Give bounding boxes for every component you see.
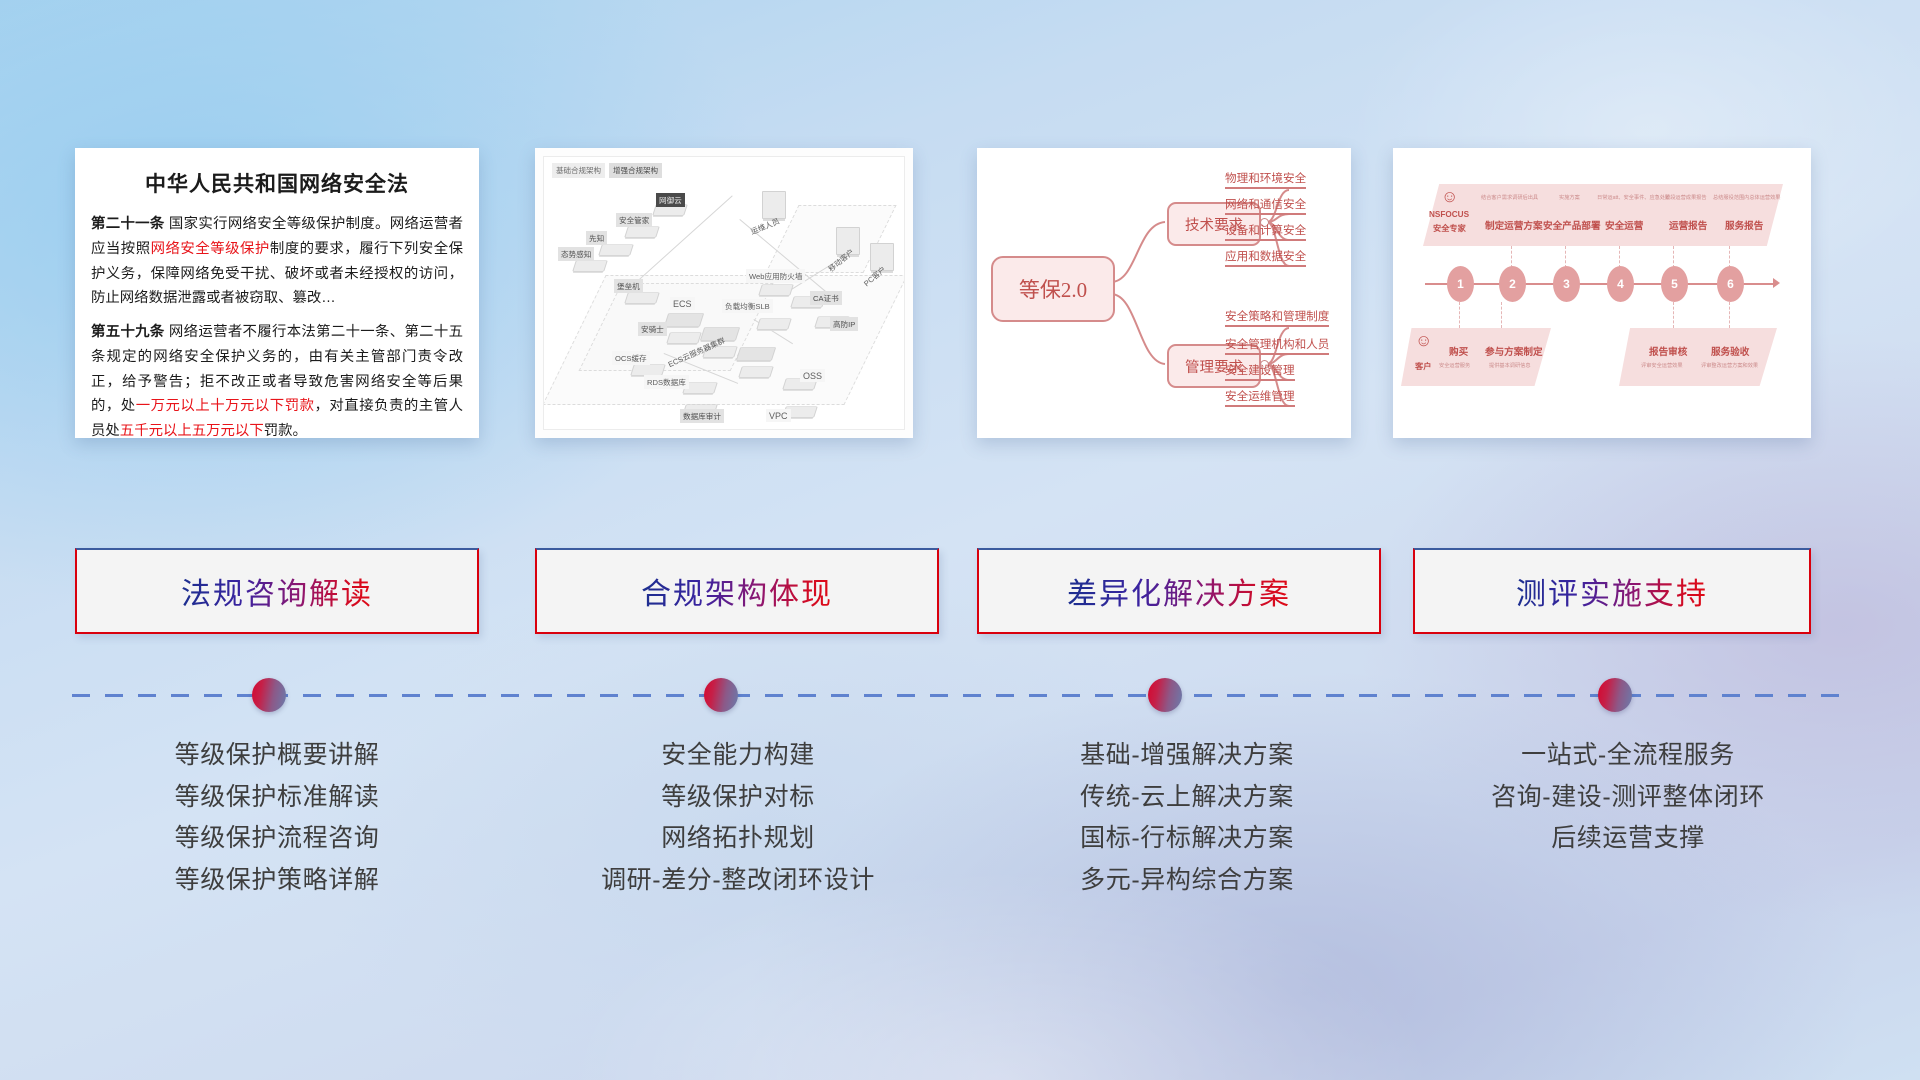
bullet-column-1: 等级保护概要讲解 等级保护标准解读 等级保护流程咨询 等级保护策略详解 — [75, 735, 479, 901]
heading-box-compliance-architecture[interactable]: 合规架构体现 — [535, 548, 939, 634]
top-step-4-title: 运营报告 — [1669, 218, 1707, 232]
heading-box-assessment-support[interactable]: 测评实施支持 — [1413, 548, 1811, 634]
mindmap-leaf-policy-system: 安全策略和管理制度 — [1225, 308, 1329, 327]
card-cloud-architecture[interactable]: 基础合规架构 增强合规架构 网御云 安全管家 先知 — [535, 148, 913, 438]
law-article-21-highlight: 网络安全等级保护 — [151, 241, 270, 257]
architecture-icon-xianzhi — [598, 244, 634, 255]
list-item: 等级保护对标 — [510, 777, 966, 819]
mindmap-leaf-device-compute: 设备和计算安全 — [1225, 222, 1306, 241]
heading-label-3: 差异化解决方案 — [1067, 569, 1291, 613]
architecture-canvas: 基础合规架构 增强合规架构 网御云 安全管家 先知 — [543, 156, 905, 430]
timeline-tick-5-down — [1673, 302, 1674, 328]
timeline-tick-3 — [1565, 246, 1566, 268]
law-title: 中华人民共和国网络安全法 — [91, 168, 463, 198]
top-step-5-title: 服务报告 — [1725, 218, 1763, 232]
thumbnail-row: 中华人民共和国网络安全法 第二十一条 国家实行网络安全等级保护制度。网络运营者应… — [0, 148, 1920, 443]
architecture-node-security-butler: 安全管家 — [616, 213, 652, 227]
architecture-node-ecs: ECS — [670, 297, 695, 310]
timeline-marker-1[interactable] — [252, 678, 286, 712]
architecture-diagram: 基础合规架构 增强合规架构 网御云 安全管家 先知 — [535, 148, 913, 438]
heading-box-differentiated-solution[interactable]: 差异化解决方案 — [977, 548, 1381, 634]
top-step-2-sub: 实施方案 — [1559, 194, 1580, 201]
expert-role-label: 安全专家 — [1433, 222, 1466, 234]
heading-box-regulation-consulting[interactable]: 法规咨询解读 — [75, 548, 479, 634]
architecture-node-oss: OSS — [800, 369, 825, 382]
heading-row: 法规咨询解读 合规架构体现 差异化解决方案 测评实施支持 — [0, 548, 1920, 634]
timeline-marker-4[interactable] — [1598, 678, 1632, 712]
timeline-dashed-line — [72, 694, 1848, 697]
bottom-step-2-sub: 提供基本调研信息 — [1489, 362, 1531, 369]
bottom-step-4-sub: 评审整改运营方案和效果 — [1701, 362, 1758, 369]
architecture-icon-anqishi — [666, 332, 702, 343]
timeline-step-5[interactable]: 5 — [1661, 266, 1688, 302]
architecture-node-slb: 负载均衡SLB — [722, 299, 773, 313]
architecture-icon-slb — [756, 318, 792, 329]
architecture-icon-ocs-cache — [630, 364, 666, 375]
list-item: 多元-异构综合方案 — [962, 860, 1412, 902]
timeline-tick-2 — [1511, 246, 1512, 268]
timeline-step-1[interactable]: 1 — [1447, 266, 1474, 302]
bottom-step-1-sub: 安全运营服务 — [1439, 362, 1470, 369]
timeline-step-6[interactable]: 6 — [1717, 266, 1744, 302]
bottom-step-2-title: 参与方案制定 — [1485, 344, 1543, 358]
architecture-icon-security-butler — [624, 226, 660, 237]
architecture-node-db-audit: 数据库审计 — [680, 409, 724, 423]
service-timeline-diagram: ☺ NSFOCUS 安全专家 结合客户需求调研后出具 制定运营方案 实施方案 安… — [1393, 148, 1811, 438]
card-mindmap-dengbao[interactable]: 等保2.0 技术要求 管理要求 物理和环境安全 网络和通信安全 设备和计算安全 … — [977, 148, 1351, 438]
law-article-59-number: 第五十九条 — [91, 324, 165, 340]
top-step-3-title: 安全运营 — [1605, 218, 1643, 232]
law-article-59-highlight-2: 五千元以上五万元以下 — [120, 423, 264, 438]
law-article-21: 第二十一条 国家实行网络安全等级保护制度。网络运营者应当按照网络安全等级保护制度… — [91, 212, 463, 311]
mindmap-leaf-network-comm: 网络和通信安全 — [1225, 196, 1306, 215]
list-item: 等级保护标准解读 — [75, 777, 479, 819]
list-item: 等级保护概要讲解 — [75, 735, 479, 777]
law-article-21-number: 第二十一条 — [91, 216, 165, 232]
architecture-node-anti-ddos-ip: 高防IP — [830, 317, 858, 331]
mindmap-diagram: 等保2.0 技术要求 管理要求 物理和环境安全 网络和通信安全 设备和计算安全 … — [977, 148, 1351, 438]
list-item: 等级保护策略详解 — [75, 860, 479, 902]
architecture-node-waf: Web应用防火墙 — [746, 269, 805, 283]
timeline-tick-1-down — [1459, 302, 1460, 328]
architecture-icon-ecs — [664, 313, 704, 327]
timeline-tick-2-down — [1501, 302, 1502, 328]
bullet-column-2: 安全能力构建 等级保护对标 网络拓扑规划 调研-差分-整改闭环设计 — [510, 735, 966, 901]
architecture-node-ca: CA证书 — [810, 291, 842, 305]
expert-avatar-icon: ☺ — [1441, 188, 1458, 205]
law-document: 中华人民共和国网络安全法 第二十一条 国家实行网络安全等级保护制度。网络运营者应… — [75, 148, 479, 438]
mindmap-leaf-app-data: 应用和数据安全 — [1225, 248, 1306, 267]
heading-label-4: 测评实施支持 — [1516, 569, 1708, 613]
architecture-tabs[interactable]: 基础合规架构 增强合规架构 — [552, 163, 662, 178]
architecture-icon-situational-awareness — [572, 260, 608, 271]
architecture-node-bastion: 堡垒机 — [614, 279, 643, 293]
list-item: 传统-云上解决方案 — [962, 777, 1412, 819]
top-step-3-sub: 日常运att、安全事件、应急处置 — [1597, 194, 1670, 201]
card-service-timeline[interactable]: ☺ NSFOCUS 安全专家 结合客户需求调研后出具 制定运营方案 实施方案 安… — [1393, 148, 1811, 438]
timeline-step-3[interactable]: 3 — [1553, 266, 1580, 302]
top-step-1-sub: 结合客户需求调研后出具 — [1481, 194, 1538, 201]
timeline-tick-6 — [1729, 246, 1730, 268]
architecture-node-wangyuyun: 网御云 — [656, 193, 685, 207]
architecture-node-rds: RDS数据库 — [644, 375, 689, 389]
customer-avatar-icon: ☺ — [1415, 332, 1432, 349]
mindmap-leaf-construction-mgmt: 安全建设管理 — [1225, 362, 1295, 381]
expert-brand-label: NSFOCUS — [1429, 210, 1469, 219]
bottom-step-3-title: 报告审核 — [1649, 344, 1687, 358]
bottom-step-4-title: 服务验收 — [1711, 344, 1749, 358]
list-item: 后续运营支撑 — [1400, 818, 1856, 860]
timeline-tick-6-down — [1729, 302, 1730, 328]
tab-basic-compliance[interactable]: 基础合规架构 — [552, 163, 605, 178]
architecture-node-ocs-cache: OCS缓存 — [612, 351, 650, 365]
architecture-node-vpc: VPC — [766, 409, 791, 422]
timeline-marker-2[interactable] — [704, 678, 738, 712]
bullet-column-3: 基础-增强解决方案 传统-云上解决方案 国标-行标解决方案 多元-异构综合方案 — [962, 735, 1412, 901]
top-step-2-title: 安全产品部署 — [1543, 218, 1601, 232]
bottom-step-1-title: 购买 — [1449, 344, 1468, 358]
top-step-1-title: 制定运营方案 — [1485, 218, 1543, 232]
timeline-tick-5 — [1673, 246, 1674, 268]
list-item: 安全能力构建 — [510, 735, 966, 777]
architecture-icon-waf — [758, 284, 794, 295]
tab-enhanced-compliance[interactable]: 增强合规架构 — [609, 163, 662, 178]
architecture-icon-ops-person — [762, 191, 786, 219]
heading-label-2: 合规架构体现 — [641, 569, 833, 613]
mindmap-leaf-physical-env: 物理和环境安全 — [1225, 170, 1306, 189]
list-item: 网络拓扑规划 — [510, 818, 966, 860]
list-item: 等级保护流程咨询 — [75, 818, 479, 860]
heading-label-1: 法规咨询解读 — [181, 569, 373, 613]
timeline-step-2[interactable]: 2 — [1499, 266, 1526, 302]
timeline-arrow-icon — [1773, 278, 1780, 288]
list-item: 咨询-建设-测评整体闭环 — [1400, 777, 1856, 819]
timeline-tick-4 — [1619, 246, 1620, 268]
mindmap-leaf-ops-mgmt: 安全运维管理 — [1225, 388, 1295, 407]
architecture-icon-ecs-cluster-c — [736, 347, 776, 361]
architecture-node-anqishi: 安骑士 — [638, 322, 667, 336]
timeline-band-customer-right — [1619, 328, 1777, 386]
architecture-node-situational-awareness: 态势感知 — [558, 247, 594, 261]
architecture-node-xianzhi: 先知 — [586, 231, 607, 245]
law-article-59-highlight-1: 一万元以上十万元以下罚款 — [136, 398, 315, 414]
card-cybersecurity-law[interactable]: 中华人民共和国网络安全法 第二十一条 国家实行网络安全等级保护制度。网络运营者应… — [75, 148, 479, 438]
architecture-icon-ecs-cluster-d — [738, 366, 774, 377]
list-item: 国标-行标解决方案 — [962, 818, 1412, 860]
list-item: 一站式-全流程服务 — [1400, 735, 1856, 777]
customer-role-label: 客户 — [1415, 360, 1431, 372]
top-step-5-sub: 总结服役范围内总体运营效果 — [1713, 194, 1780, 201]
list-item: 基础-增强解决方案 — [962, 735, 1412, 777]
timeline-step-4[interactable]: 4 — [1607, 266, 1634, 302]
top-step-4-sub: 阶段运营成果报告 — [1665, 194, 1707, 201]
mindmap-root: 等保2.0 — [991, 256, 1115, 322]
bottom-step-3-sub: 评审安全运营效果 — [1641, 362, 1683, 369]
list-item: 调研-差分-整改闭环设计 — [510, 860, 966, 902]
mindmap-leaf-org-personnel: 安全管理机构和人员 — [1225, 336, 1329, 355]
timeline-marker-3[interactable] — [1148, 678, 1182, 712]
law-article-59: 第五十九条 网络运营者不履行本法第二十一条、第二十五条规定的网络安全保护义务的，… — [91, 320, 463, 438]
architecture-icon-bastion — [624, 292, 660, 303]
law-article-59-seg3: 罚款。 — [264, 423, 307, 438]
bullet-column-4: 一站式-全流程服务 咨询-建设-测评整体闭环 后续运营支撑 — [1400, 735, 1856, 860]
